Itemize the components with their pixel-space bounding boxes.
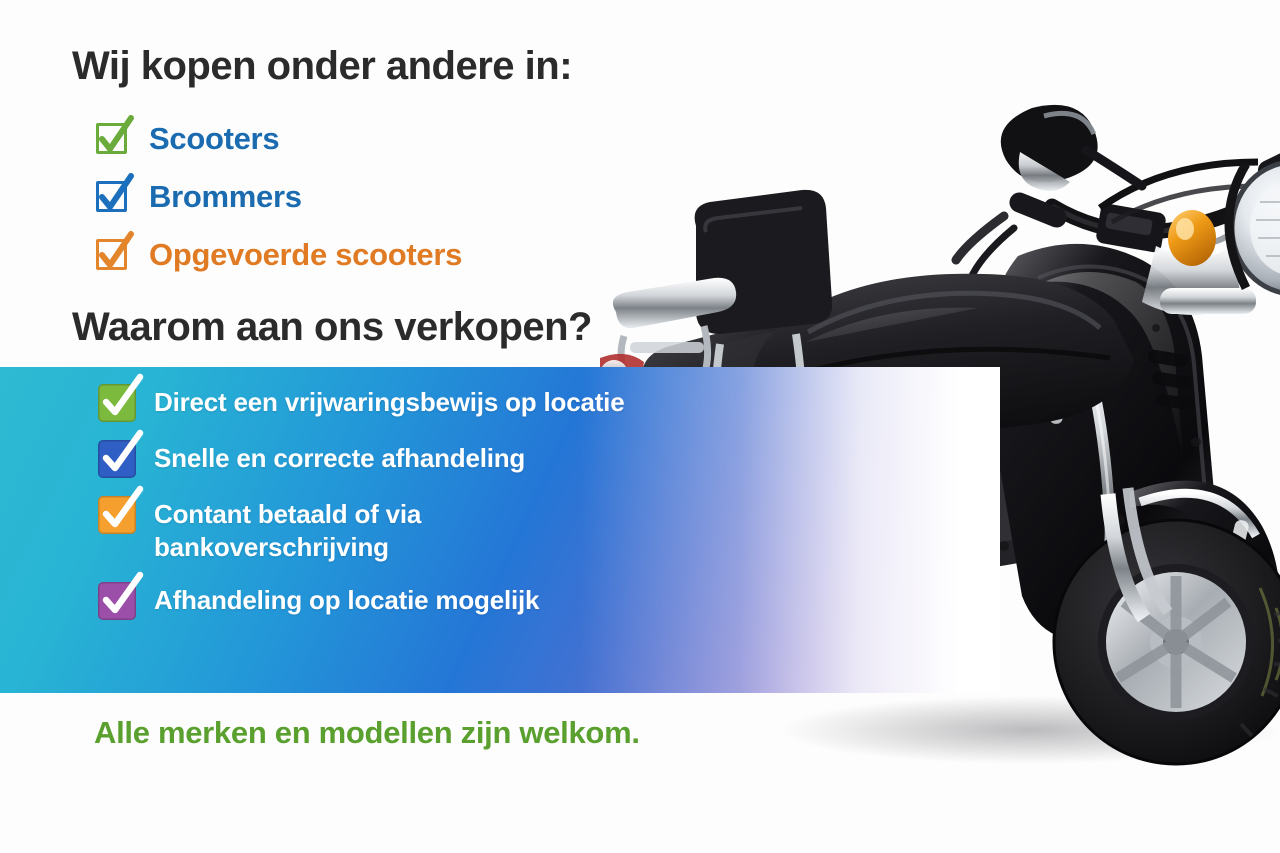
list-item-label: Opgevoerde scooters bbox=[149, 237, 462, 273]
promo-banner: Wij kopen onder andere in: Scooters Brom… bbox=[0, 0, 1280, 853]
list-item-label: Afhandeling op locatie mogelijk bbox=[154, 582, 539, 617]
list-item: Direct een vrijwaringsbewijs op locatie bbox=[98, 384, 658, 422]
list-item-label: Scooters bbox=[149, 121, 279, 157]
page-title: Wij kopen onder andere in: bbox=[72, 44, 572, 89]
checkbox-filled-green-icon bbox=[98, 384, 136, 422]
checkbox-filled-blue-icon bbox=[98, 440, 136, 478]
benefits-list: Direct een vrijwaringsbewijs op locatie … bbox=[98, 384, 658, 638]
list-item-label: Contant betaald of via bankoverschrijvin… bbox=[154, 496, 658, 564]
checkbox-outline-blue-icon bbox=[95, 177, 135, 217]
checkbox-outline-orange-icon bbox=[95, 235, 135, 275]
list-item-label: Direct een vrijwaringsbewijs op locatie bbox=[154, 384, 624, 419]
list-item: Snelle en correcte afhandeling bbox=[98, 440, 658, 478]
section-title-why-sell: Waarom aan ons verkopen? bbox=[72, 305, 592, 350]
footer-note: Alle merken en modellen zijn welkom. bbox=[94, 715, 640, 751]
list-item-label: Brommers bbox=[149, 179, 302, 215]
checkbox-filled-purple-icon bbox=[98, 582, 136, 620]
checkbox-filled-orange-icon bbox=[98, 496, 136, 534]
list-item: Contant betaald of via bankoverschrijvin… bbox=[98, 496, 658, 564]
checkbox-outline-green-icon bbox=[95, 119, 135, 159]
list-item: Brommers bbox=[95, 168, 462, 226]
list-item: Opgevoerde scooters bbox=[95, 226, 462, 284]
list-item-label: Snelle en correcte afhandeling bbox=[154, 440, 525, 475]
list-item: Afhandeling op locatie mogelijk bbox=[98, 582, 658, 620]
list-item: Scooters bbox=[95, 110, 462, 168]
buy-categories-list: Scooters Brommers Opgevoerde scooters bbox=[95, 110, 462, 284]
